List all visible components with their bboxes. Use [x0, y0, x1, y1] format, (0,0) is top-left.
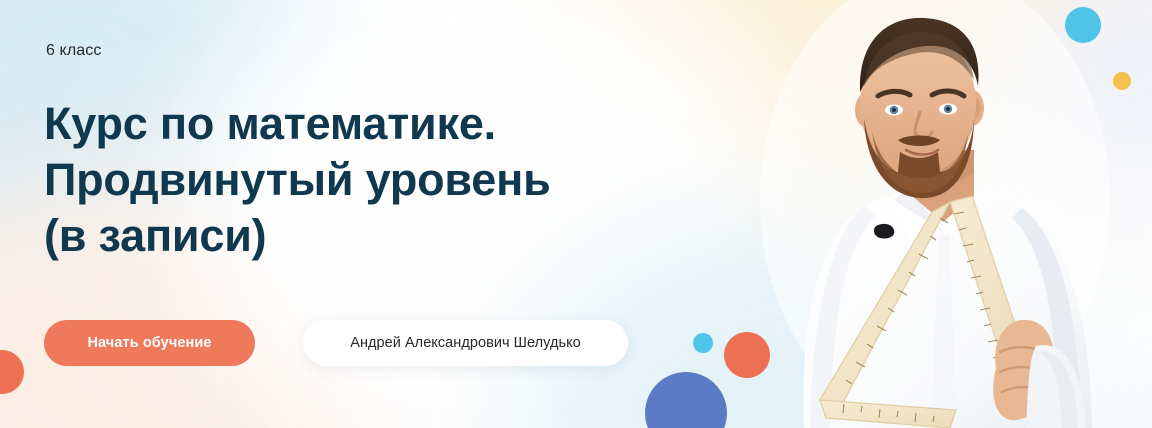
lapel-mic-icon [874, 224, 894, 239]
page-title: Курс по математике. Продвинутый уровень … [44, 96, 551, 264]
start-learning-button-label: Начать обучение [87, 335, 211, 351]
dot-orange [724, 332, 770, 378]
start-learning-button[interactable]: Начать обучение [44, 320, 255, 366]
dot-yellow-top-right [1113, 72, 1131, 90]
teacher-name-pill[interactable]: Андрей Александрович Шелудько [303, 320, 628, 366]
dot-cyan-top-right [1065, 7, 1101, 43]
teacher-photo [760, 0, 1152, 428]
course-hero-banner: 6 класс Курс по математике. Продвинутый … [0, 0, 1152, 428]
grade-label: 6 класс [46, 42, 101, 60]
teacher-name-label: Андрей Александрович Шелудько [350, 335, 581, 351]
